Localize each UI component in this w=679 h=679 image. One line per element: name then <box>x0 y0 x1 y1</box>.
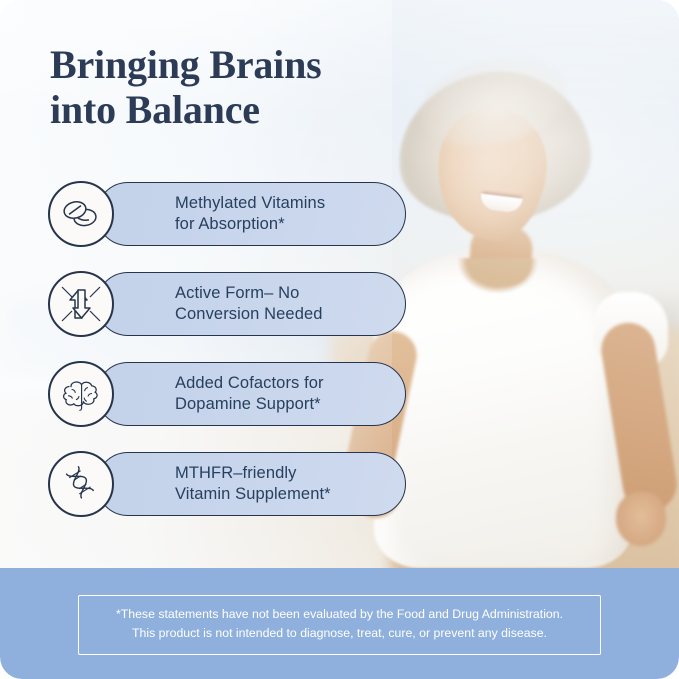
disclaimer-line-1: *These statements have not been evaluate… <box>89 605 590 624</box>
feature-text: MTHFR–friendly Vitamin Supplement* <box>97 463 347 505</box>
disclaimer-box: *These statements have not been evaluate… <box>78 595 601 655</box>
feature-text-line-2: for Absorption* <box>175 215 285 233</box>
feature-pill: Added Cofactors for Dopamine Support* <box>96 362 406 426</box>
up-down-arrows-icon <box>59 284 103 324</box>
feature-text: Active Form– No Conversion Needed <box>97 283 339 325</box>
feature-badge <box>48 361 114 427</box>
pills-tablets-icon <box>61 197 101 231</box>
feature-badge <box>48 451 114 517</box>
title-line-1: Bringing Brains <box>50 42 322 87</box>
promo-card: Bringing Brains into Balance Methylated … <box>0 0 679 679</box>
feature-pill: Methylated Vitamins for Absorption* <box>96 182 406 246</box>
feature-text-line-2: Conversion Needed <box>175 305 323 323</box>
page-title: Bringing Brains into Balance <box>50 42 450 132</box>
disclaimer-line-2: This product is not intended to diagnose… <box>89 624 590 643</box>
feature-text-line-1: MTHFR–friendly <box>175 464 297 482</box>
feature-text-line-1: Active Form– No <box>175 284 299 302</box>
feature-text: Added Cofactors for Dopamine Support* <box>97 373 340 415</box>
feature-pill: MTHFR–friendly Vitamin Supplement* <box>96 452 406 516</box>
feature-badge <box>48 271 114 337</box>
card-content: Bringing Brains into Balance Methylated … <box>0 0 679 679</box>
feature-text-line-1: Methylated Vitamins <box>175 194 325 212</box>
brain-icon <box>60 377 102 411</box>
feature-text-line-2: Dopamine Support* <box>175 395 321 413</box>
feature-text-line-2: Vitamin Supplement* <box>175 485 331 503</box>
feature-badge <box>48 181 114 247</box>
dna-helix-icon <box>61 464 101 504</box>
feature-text-line-1: Added Cofactors for <box>175 374 324 392</box>
feature-text: Methylated Vitamins for Absorption* <box>97 193 341 235</box>
title-line-2: into Balance <box>50 87 450 132</box>
disclaimer-footer: *These statements have not been evaluate… <box>0 568 679 679</box>
feature-pill: Active Form– No Conversion Needed <box>96 272 406 336</box>
